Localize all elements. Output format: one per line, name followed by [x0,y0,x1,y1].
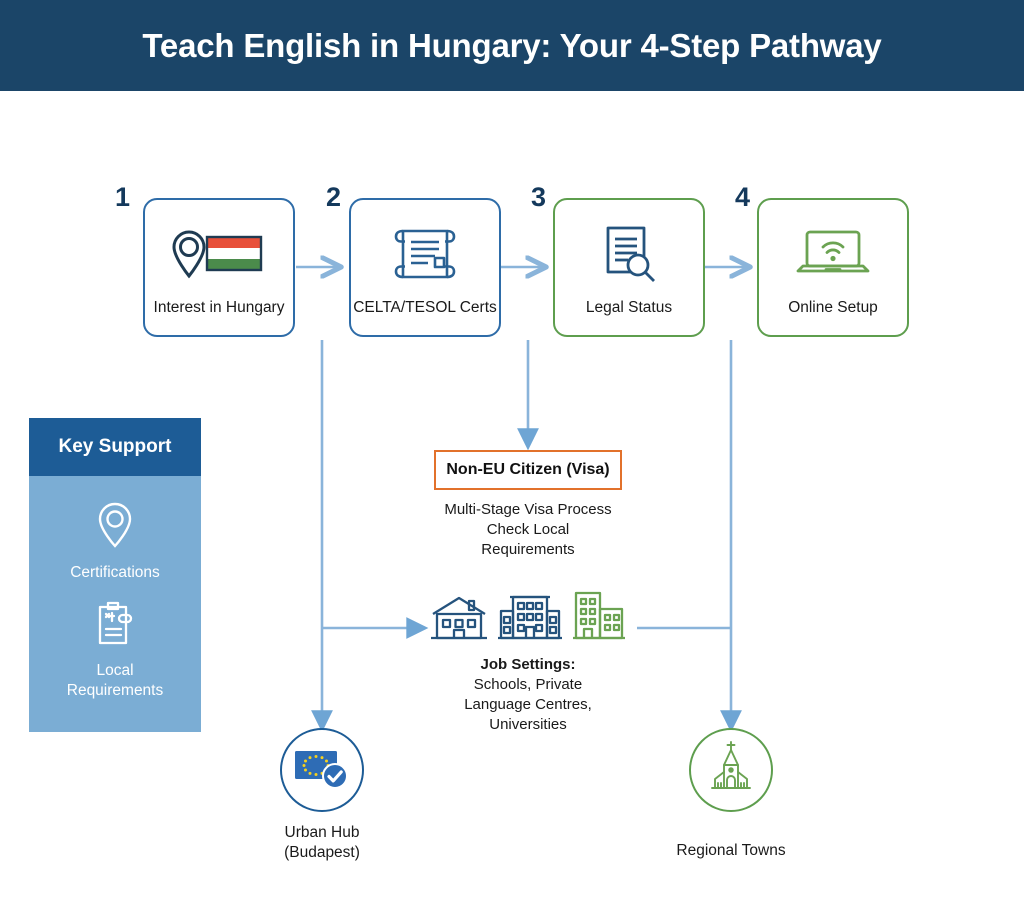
job-settings-heading: Job Settings: [420,655,636,675]
outcome-label-urban-hub: Urban Hub(Budapest) [222,823,422,863]
location-pin-hungary-flag-icon [167,218,271,290]
office-building-icon [496,589,564,648]
school-house-icon [428,593,490,648]
step-number-3: 3 [531,182,546,213]
step-number-2: 2 [326,182,341,213]
eu-flag-check-icon [291,743,353,798]
outcome-label-regional-towns: Regional Towns [631,841,831,861]
step-number-4: 4 [735,182,750,213]
location-pin-icon [92,498,138,557]
key-support-title: Key Support [59,436,172,458]
tall-building-icon [570,587,628,648]
support-label-local-requirements: LocalRequirements [67,661,164,700]
support-label-certifications: Certifications [70,563,160,582]
step-label-4: Online Setup [759,299,907,317]
step-box-online-setup[interactable]: Online Setup [757,198,909,337]
key-support-panel: Key Support Certifications [29,418,201,732]
certificate-scroll-icon [390,218,460,290]
outcome-node-urban-hub[interactable] [280,728,364,812]
job-settings-detail: Schools, PrivateLanguage Centres,Univers… [464,676,592,733]
step-label-2: CELTA/TESOL Certs [351,299,499,317]
support-item-local-requirements[interactable]: LocalRequirements [67,598,164,700]
key-support-body: Certifications [29,476,201,732]
step-label-1: Interest in Hungary [145,299,293,317]
job-settings-text: Job Settings: Schools, PrivateLanguage C… [420,655,636,735]
job-settings-icons [424,594,632,648]
laptop-wifi-icon [792,218,874,290]
non-eu-citizen-visa-box[interactable]: Non-EU Citizen (Visa) [434,450,622,490]
church-steeple-icon [702,739,760,802]
visa-box-title: Non-EU Citizen (Visa) [446,461,609,479]
key-support-header: Key Support [29,418,201,476]
step-box-celta-tesol-certs[interactable]: CELTA/TESOL Certs [349,198,501,337]
diagram-canvas: 1 Interest in Hungary 2 [0,0,1024,906]
visa-detail-text: Multi-Stage Visa ProcessCheck LocalRequi… [410,500,646,559]
clipboard-checklist-icon [89,598,141,655]
step-number-1: 1 [115,182,130,213]
support-item-certifications[interactable]: Certifications [70,498,160,582]
outcome-node-regional-towns[interactable] [689,728,773,812]
document-magnifier-icon [594,218,664,290]
step-label-3: Legal Status [555,299,703,317]
step-box-interest-in-hungary[interactable]: Interest in Hungary [143,198,295,337]
step-box-legal-status[interactable]: Legal Status [553,198,705,337]
